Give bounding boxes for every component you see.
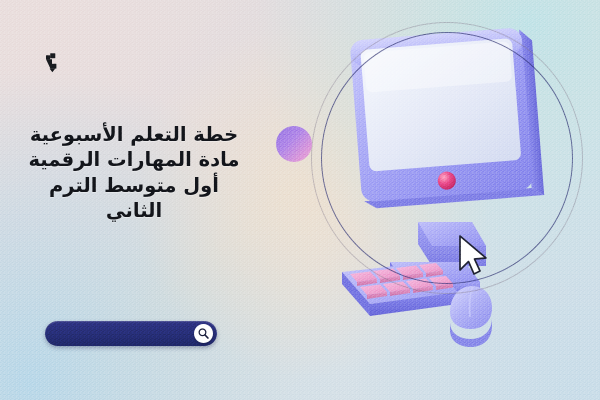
search-bar[interactable] [45,321,217,346]
mouse [450,286,492,347]
title-line-3: أول متوسط الترم [0,173,268,198]
search-input[interactable] [57,321,201,348]
page-title: خطة التعلم الأسبوعية مادة المهارات الرقم… [0,122,268,223]
search-button[interactable] [194,324,213,343]
3d-computer-illustration [290,0,600,400]
accent-gradient-dot [276,126,312,162]
title-line-2: مادة المهارات الرقمية [0,147,268,172]
brand-logo[interactable] [38,50,64,76]
poster-canvas: خطة التعلم الأسبوعية مادة المهارات الرقم… [0,0,600,400]
title-line-1: خطة التعلم الأسبوعية [0,122,268,147]
abstract-brand-mark-icon [38,50,64,76]
search-icon [197,327,210,340]
decorative-ring-inner [321,32,573,284]
title-line-4: الثاني [0,198,268,223]
